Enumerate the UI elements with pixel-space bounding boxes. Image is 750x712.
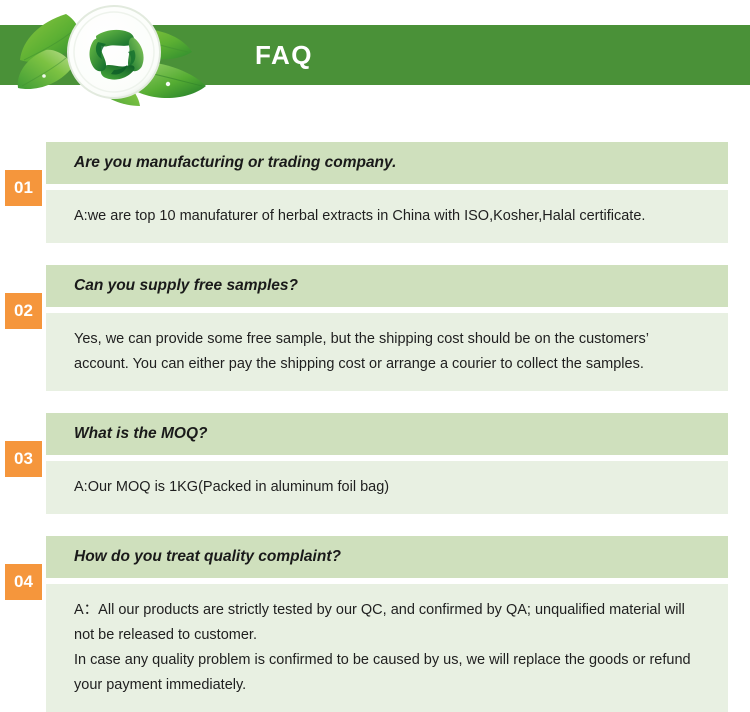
page-header: FAQ xyxy=(0,0,750,120)
faq-answer-bar: A:Our MOQ is 1KG(Packed in aluminum foil… xyxy=(46,461,728,514)
faq-question-text: Are you manufacturing or trading company… xyxy=(74,154,396,171)
leaf-recycle-logo xyxy=(10,0,230,110)
faq-number-badge: 02 xyxy=(5,293,42,329)
logo-circle xyxy=(68,6,160,98)
faq-page: FAQ 01 Are you manufacturing or trading … xyxy=(0,0,750,668)
faq-answer-line: A:Our MOQ is 1KG(Packed in aluminum foil… xyxy=(74,475,704,500)
faq-answer-line: A：All our products are strictly tested b… xyxy=(74,598,704,648)
faq-answer-bar: A:we are top 10 manufaturer of herbal ex… xyxy=(46,190,728,243)
faq-answer-bar: Yes, we can provide some free sample, bu… xyxy=(46,313,728,391)
faq-question-text: How do you treat quality complaint? xyxy=(74,548,341,565)
faq-item[interactable]: 04 How do you treat quality complaint? A… xyxy=(0,536,750,712)
faq-answer-line: In case any quality problem is confirmed… xyxy=(74,648,704,698)
faq-item[interactable]: 01 Are you manufacturing or trading comp… xyxy=(0,142,750,243)
faq-question-bar[interactable]: How do you treat quality complaint? xyxy=(46,536,728,578)
faq-number-badge: 01 xyxy=(5,170,42,206)
faq-question-text: What is the MOQ? xyxy=(74,425,207,442)
faq-question-bar[interactable]: Can you supply free samples? xyxy=(46,265,728,307)
faq-number-badge: 03 xyxy=(5,441,42,477)
faq-answer-line: A:we are top 10 manufaturer of herbal ex… xyxy=(74,204,704,229)
faq-question-bar[interactable]: What is the MOQ? xyxy=(46,413,728,455)
faq-number-badge: 04 xyxy=(5,564,42,600)
page-title: FAQ xyxy=(255,38,313,72)
faq-question-bar[interactable]: Are you manufacturing or trading company… xyxy=(46,142,728,184)
faq-answer-bar: A：All our products are strictly tested b… xyxy=(46,584,728,712)
faq-question-text: Can you supply free samples? xyxy=(74,277,298,294)
faq-item[interactable]: 03 What is the MOQ? A:Our MOQ is 1KG(Pac… xyxy=(0,413,750,514)
faq-list: 01 Are you manufacturing or trading comp… xyxy=(0,120,750,712)
faq-answer-line: Yes, we can provide some free sample, bu… xyxy=(74,327,704,377)
faq-item[interactable]: 02 Can you supply free samples? Yes, we … xyxy=(0,265,750,391)
